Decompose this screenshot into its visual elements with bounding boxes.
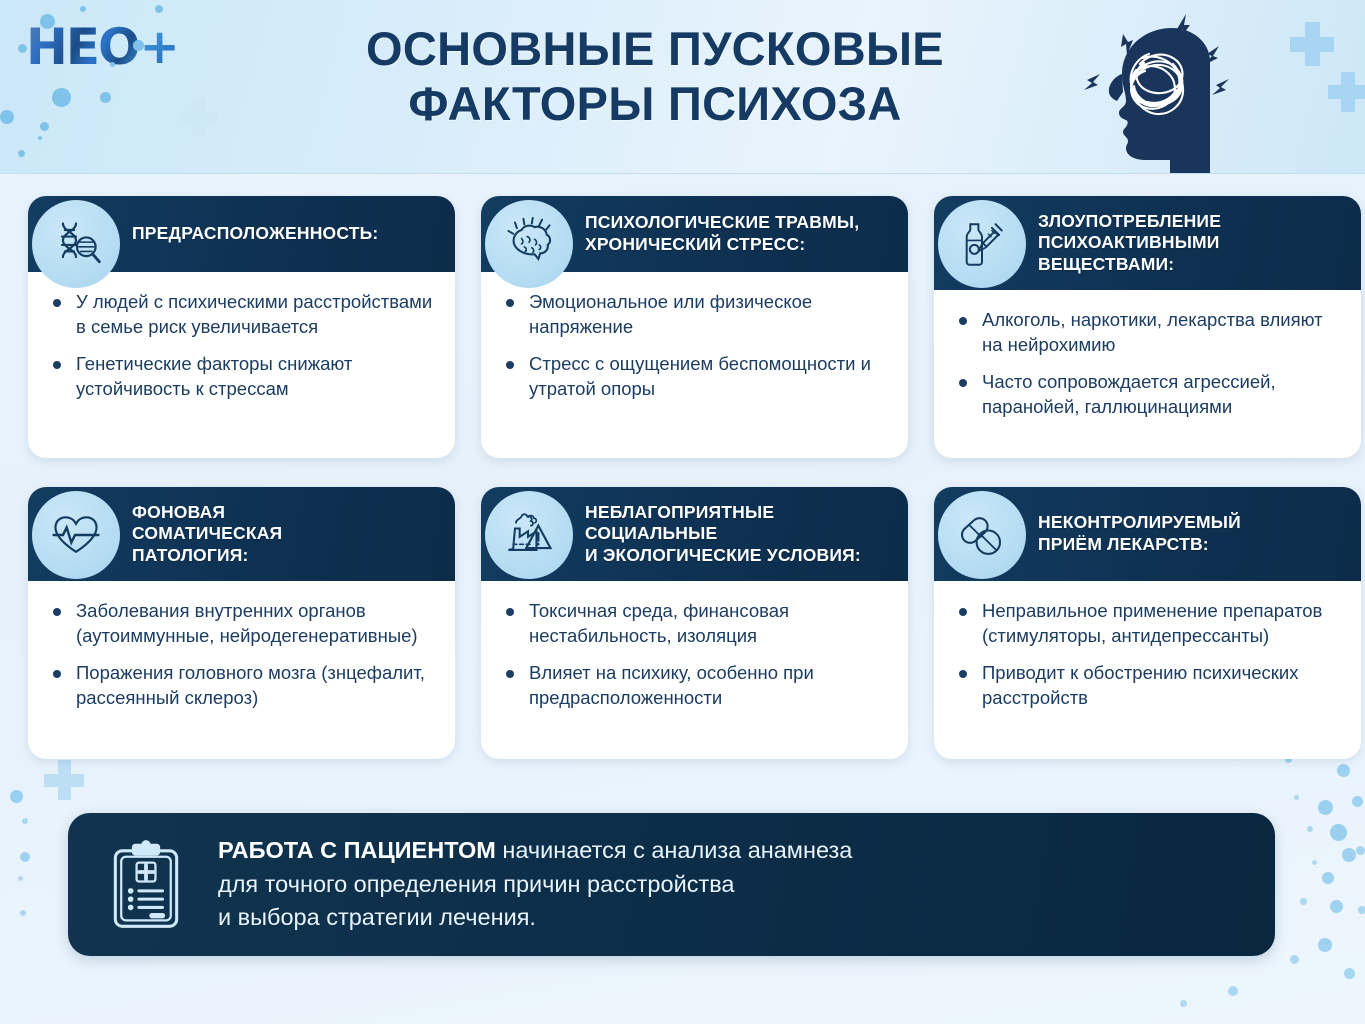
footer-bold-text: РАБОТА С ПАЦИЕНТОМ bbox=[218, 837, 496, 863]
factor-card: ПРЕДРАСПОЛОЖЕННОСТЬ: У людей с психическ… bbox=[28, 196, 455, 458]
footer-text: РАБОТА С ПАЦИЕНТОМ начинается с анализа … bbox=[218, 834, 852, 934]
card-title-line: ПСИХОАКТИВНЫМИ bbox=[1038, 232, 1221, 254]
decor-dot bbox=[20, 910, 26, 916]
card-body: Заболевания внутренних органов (аутоимму… bbox=[28, 581, 455, 728]
decor-dot bbox=[18, 44, 27, 53]
header-band: НЕО + ОСНОВНЫЕ ПУСКОВЫЕ ФАКТОРЫ ПСИХОЗА bbox=[0, 0, 1365, 174]
decor-dot bbox=[1180, 1000, 1187, 1007]
footer-line-1: РАБОТА С ПАЦИЕНТОМ начинается с анализа … bbox=[218, 834, 852, 867]
card-title: НЕБЛАГОПРИЯТНЫЕ СОЦИАЛЬНЫЕ И ЭКОЛОГИЧЕСК… bbox=[585, 502, 861, 567]
decor-dot bbox=[1312, 860, 1317, 865]
decor-dot bbox=[22, 818, 28, 824]
decor-dot bbox=[18, 876, 23, 881]
card-title-line: ПРЕДРАСПОЛОЖЕННОСТЬ: bbox=[132, 223, 378, 245]
list-item: У людей с психическими расстройствами в … bbox=[50, 290, 437, 339]
page-title: ОСНОВНЫЕ ПУСКОВЫЕ ФАКТОРЫ ПСИХОЗА bbox=[260, 22, 1050, 132]
infographic-page: НЕО + ОСНОВНЫЕ ПУСКОВЫЕ ФАКТОРЫ ПСИХОЗА bbox=[0, 0, 1365, 1024]
footer-line-1-rest: начинается с анализа анамнеза bbox=[496, 837, 853, 863]
decor-dot bbox=[1358, 906, 1365, 914]
decor-dot bbox=[1322, 872, 1334, 884]
bullet-list: Неправильное применение препаратов (стим… bbox=[956, 599, 1343, 710]
bullet-list: У людей с психическими расстройствами в … bbox=[50, 290, 437, 401]
page-title-line-2: ФАКТОРЫ ПСИХОЗА bbox=[260, 77, 1050, 132]
decor-dot bbox=[20, 852, 30, 862]
list-item: Стресс с ощущением беспомощности и утрат… bbox=[503, 352, 890, 401]
decor-dot bbox=[1294, 795, 1299, 800]
card-body: Эмоциональное или физическое напряжение … bbox=[481, 272, 908, 419]
card-title: ПСИХОЛОГИЧЕСКИЕ ТРАВМЫ, ХРОНИЧЕСКИЙ СТРЕ… bbox=[585, 212, 859, 255]
card-header: НЕКОНТРОЛИРУЕМЫЙ ПРИЁМ ЛЕКАРСТВ: bbox=[934, 487, 1361, 581]
decor-dot bbox=[100, 92, 111, 103]
decor-dot bbox=[80, 6, 86, 12]
factor-card: ЗЛОУПОТРЕБЛЕНИЕ ПСИХОАКТИВНЫМИ ВЕЩЕСТВАМ… bbox=[934, 196, 1361, 458]
card-header: ФОНОВАЯ СОМАТИЧЕСКАЯ ПАТОЛОГИЯ: bbox=[28, 487, 455, 581]
brand-plus-icon: + bbox=[140, 19, 180, 75]
list-item: Заболевания внутренних органов (аутоимму… bbox=[50, 599, 437, 648]
decor-dot bbox=[1356, 846, 1365, 855]
footer-line-2: для точного определения причин расстройс… bbox=[218, 868, 852, 901]
decor-dot bbox=[1330, 900, 1343, 913]
bullet-list: Заболевания внутренних органов (аутоимму… bbox=[50, 599, 437, 710]
factory-warning-icon bbox=[485, 491, 573, 579]
decor-dot bbox=[1342, 848, 1356, 862]
footer-banner: РАБОТА С ПАЦИЕНТОМ начинается с анализа … bbox=[68, 813, 1275, 956]
decor-plus-icon bbox=[180, 98, 218, 136]
decor-dot bbox=[133, 40, 144, 51]
card-header: НЕБЛАГОПРИЯТНЫЕ СОЦИАЛЬНЫЕ И ЭКОЛОГИЧЕСК… bbox=[481, 487, 908, 581]
decor-dot bbox=[52, 88, 71, 107]
card-body: Токсичная среда, финансовая нестабильнос… bbox=[481, 581, 908, 728]
decor-dot bbox=[1337, 764, 1350, 777]
decor-dot bbox=[1352, 796, 1363, 807]
footer-line-3: и выбора стратегии лечения. bbox=[218, 901, 852, 934]
decor-plus-icon bbox=[1290, 22, 1334, 66]
card-header: ПСИХОЛОГИЧЕСКИЕ ТРАВМЫ, ХРОНИЧЕСКИЙ СТРЕ… bbox=[481, 196, 908, 272]
list-item: Эмоциональное или физическое напряжение bbox=[503, 290, 890, 339]
decor-plus-icon bbox=[44, 760, 84, 800]
decor-dot bbox=[38, 136, 42, 140]
card-title-line: СОМАТИЧЕСКАЯ bbox=[132, 523, 282, 545]
card-title-line: ПАТОЛОГИЯ: bbox=[132, 545, 282, 567]
decor-dot bbox=[1318, 800, 1333, 815]
list-item: Приводит к обострению психических расстр… bbox=[956, 661, 1343, 710]
factor-card: ФОНОВАЯ СОМАТИЧЕСКАЯ ПАТОЛОГИЯ: Заболева… bbox=[28, 487, 455, 759]
card-title-line: ФОНОВАЯ bbox=[132, 502, 282, 524]
decor-dot bbox=[40, 14, 55, 29]
card-header: ЗЛОУПОТРЕБЛЕНИЕ ПСИХОАКТИВНЫМИ ВЕЩЕСТВАМ… bbox=[934, 196, 1361, 290]
decor-dot bbox=[1344, 968, 1355, 979]
list-item: Часто сопровождается агрессией, паранойе… bbox=[956, 370, 1343, 419]
card-title-line: ЗЛОУПОТРЕБЛЕНИЕ bbox=[1038, 211, 1221, 233]
card-title: НЕКОНТРОЛИРУЕМЫЙ ПРИЁМ ЛЕКАРСТВ: bbox=[1038, 512, 1241, 555]
card-body: У людей с психическими расстройствами в … bbox=[28, 272, 455, 419]
list-item: Алкоголь, наркотики, лекарства влияют на… bbox=[956, 308, 1343, 357]
card-title-line: ПРИЁМ ЛЕКАРСТВ: bbox=[1038, 534, 1241, 556]
factors-card-grid: ПРЕДРАСПОЛОЖЕННОСТЬ: У людей с психическ… bbox=[28, 196, 1338, 759]
decor-dot bbox=[1307, 826, 1313, 832]
decor-dot bbox=[18, 150, 25, 157]
bottle-syringe-icon bbox=[938, 200, 1026, 288]
list-item: Неправильное применение препаратов (стим… bbox=[956, 599, 1343, 648]
bullet-list: Алкоголь, наркотики, лекарства влияют на… bbox=[956, 308, 1343, 419]
bullet-list: Токсичная среда, финансовая нестабильнос… bbox=[503, 599, 890, 710]
page-title-line-1: ОСНОВНЫЕ ПУСКОВЫЕ bbox=[260, 22, 1050, 77]
card-title-line: ХРОНИЧЕСКИЙ СТРЕСС: bbox=[585, 234, 859, 256]
decor-dot bbox=[1228, 986, 1238, 996]
decor-dot bbox=[110, 62, 115, 67]
card-title: ФОНОВАЯ СОМАТИЧЕСКАЯ ПАТОЛОГИЯ: bbox=[132, 502, 282, 567]
list-item: Генетические факторы снижают устойчивост… bbox=[50, 352, 437, 401]
decor-dot bbox=[155, 5, 163, 13]
decor-dot bbox=[10, 790, 23, 803]
dna-magnifier-icon bbox=[32, 200, 120, 288]
decor-dot bbox=[1300, 898, 1307, 905]
factor-card: ПСИХОЛОГИЧЕСКИЕ ТРАВМЫ, ХРОНИЧЕСКИЙ СТРЕ… bbox=[481, 196, 908, 458]
factor-card: НЕБЛАГОПРИЯТНЫЕ СОЦИАЛЬНЫЕ И ЭКОЛОГИЧЕСК… bbox=[481, 487, 908, 759]
card-title-line: И ЭКОЛОГИЧЕСКИЕ УСЛОВИЯ: bbox=[585, 545, 861, 567]
decor-dot bbox=[1290, 955, 1299, 964]
card-title-line: СОЦИАЛЬНЫЕ bbox=[585, 523, 861, 545]
card-body: Неправильное применение препаратов (стим… bbox=[934, 581, 1361, 728]
decor-plus-icon bbox=[1328, 72, 1365, 112]
list-item: Влияет на психику, особенно при предрасп… bbox=[503, 661, 890, 710]
card-body: Алкоголь, наркотики, лекарства влияют на… bbox=[934, 290, 1361, 437]
decor-dot bbox=[1330, 824, 1347, 841]
card-title-line: ПСИХОЛОГИЧЕСКИЕ ТРАВМЫ, bbox=[585, 212, 859, 234]
list-item: Поражения головного мозга (знцефалит, ра… bbox=[50, 661, 437, 710]
card-title-line: ВЕЩЕСТВАМИ: bbox=[1038, 254, 1221, 276]
card-title: ПРЕДРАСПОЛОЖЕННОСТЬ: bbox=[132, 223, 378, 245]
factor-card: НЕКОНТРОЛИРУЕМЫЙ ПРИЁМ ЛЕКАРСТВ: Неправи… bbox=[934, 487, 1361, 759]
clipboard-medical-icon bbox=[94, 839, 198, 931]
bullet-list: Эмоциональное или физическое напряжение … bbox=[503, 290, 890, 401]
decor-dot bbox=[1318, 938, 1332, 952]
list-item: Токсичная среда, финансовая нестабильнос… bbox=[503, 599, 890, 648]
stressed-brain-icon bbox=[485, 200, 573, 288]
decor-dot bbox=[0, 110, 14, 124]
card-title-line: НЕКОНТРОЛИРУЕМЫЙ bbox=[1038, 512, 1241, 534]
pills-icon bbox=[938, 491, 1026, 579]
card-header: ПРЕДРАСПОЛОЖЕННОСТЬ: bbox=[28, 196, 455, 272]
head-with-tangled-brain-icon bbox=[1077, 6, 1247, 174]
decor-dot bbox=[40, 122, 49, 131]
card-title-line: НЕБЛАГОПРИЯТНЫЕ bbox=[585, 502, 861, 524]
card-title: ЗЛОУПОТРЕБЛЕНИЕ ПСИХОАКТИВНЫМИ ВЕЩЕСТВАМ… bbox=[1038, 211, 1221, 276]
heart-pulse-icon bbox=[32, 491, 120, 579]
